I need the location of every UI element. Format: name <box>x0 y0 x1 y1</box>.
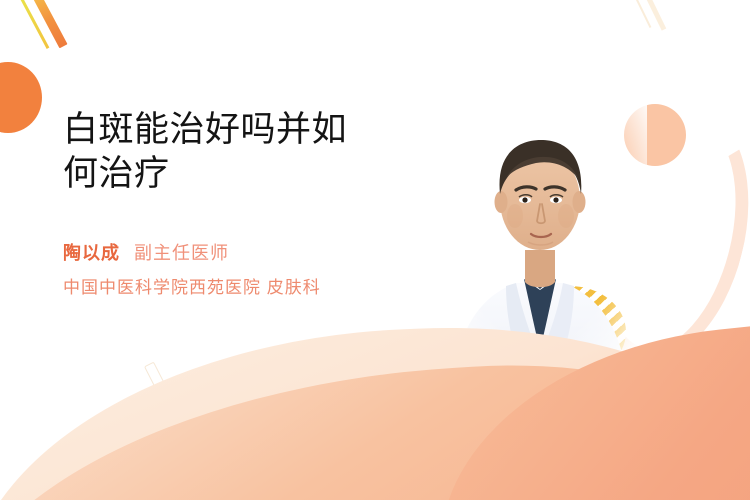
orange-circle-decoration <box>0 62 42 133</box>
doctor-portrait-image <box>432 82 647 412</box>
byline: 陶以成副主任医师 <box>63 238 423 268</box>
page-title-line-2: 何治疗 <box>63 152 423 196</box>
cream-diagonal-stripe-decoration <box>641 0 667 31</box>
yellow-diagonal-stripe-decoration <box>18 0 49 49</box>
orange-diagonal-stripe-decoration <box>30 0 68 48</box>
video-thumbnail-card: 白斑能治好吗并如 何治疗 陶以成副主任医师 中国中医科学院西苑医院 皮肤科 <box>0 0 750 500</box>
page-title-line-1: 白斑能治好吗并如 <box>63 108 423 152</box>
doctor-professional-title: 副主任医师 <box>134 243 229 263</box>
doctor-affiliation: 中国中医科学院西苑医院 皮肤科 <box>63 274 423 302</box>
doctor-name: 陶以成 <box>63 243 120 263</box>
text-block: 白斑能治好吗并如 何治疗 陶以成副主任医师 中国中医科学院西苑医院 皮肤科 <box>63 108 423 302</box>
cream-diagonal-stripe-thin-decoration <box>629 0 652 28</box>
outlined-diagonal-bar-decoration <box>144 362 171 401</box>
